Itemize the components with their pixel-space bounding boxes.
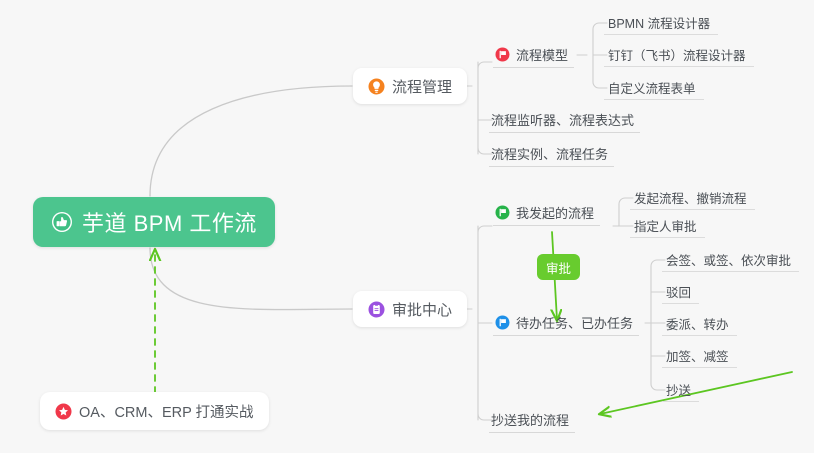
leaf-label: 抄送 <box>666 380 691 399</box>
topic-process-model[interactable]: 流程模型 <box>493 42 574 68</box>
leaf-bpmn-designer[interactable]: BPMN 流程设计器 <box>604 10 718 35</box>
leaf-reject[interactable]: 驳回 <box>662 279 699 304</box>
root-label: 芋道 BPM 工作流 <box>82 206 257 238</box>
topic-label: 流程监听器、流程表达式 <box>491 110 634 129</box>
leaf-label: 加签、减签 <box>666 346 729 365</box>
branch-label: 审批中心 <box>392 299 452 320</box>
footnote-node[interactable]: OA、CRM、ERP 打通实战 <box>40 392 269 430</box>
leaf-add-remove-sign[interactable]: 加签、减签 <box>662 343 737 368</box>
leaf-start-cancel-process[interactable]: 发起流程、撤销流程 <box>630 185 755 210</box>
leaf-label: 会签、或签、依次审批 <box>666 250 791 269</box>
leaf-cc[interactable]: 抄送 <box>662 377 699 402</box>
topic-label: 抄送我的流程 <box>491 410 569 429</box>
leaf-label: 指定人审批 <box>634 216 697 235</box>
leaf-dingtalk-designer[interactable]: 钉钉（飞书）流程设计器 <box>604 42 754 67</box>
leaf-label: BPMN 流程设计器 <box>608 13 710 32</box>
topic-cc-my-process[interactable]: 抄送我的流程 <box>489 407 575 433</box>
flag-red-icon <box>495 47 510 62</box>
clipboard-icon <box>368 301 385 318</box>
root-node[interactable]: 芋道 BPM 工作流 <box>33 197 275 247</box>
mindmap-canvas: 芋道 BPM 工作流 OA、CRM、ERP 打通实战 流程管理 <box>0 0 814 453</box>
topic-label: 流程实例、流程任务 <box>491 144 608 163</box>
leaf-label: 委派、转办 <box>666 314 729 333</box>
branch-process-management[interactable]: 流程管理 <box>353 68 467 104</box>
tag-approval[interactable]: 审批 <box>537 254 580 280</box>
leaf-label: 自定义流程表单 <box>608 78 696 97</box>
tag-label: 审批 <box>546 258 571 277</box>
flag-blue-icon <box>495 315 510 330</box>
star-icon <box>55 403 72 420</box>
leaf-assignee-approval[interactable]: 指定人审批 <box>630 213 705 238</box>
branch-approval-center[interactable]: 审批中心 <box>353 291 467 327</box>
leaf-label: 驳回 <box>666 282 691 301</box>
leaf-label: 发起流程、撤销流程 <box>634 188 747 207</box>
topic-process-instance[interactable]: 流程实例、流程任务 <box>489 141 614 167</box>
leaf-countersign[interactable]: 会签、或签、依次审批 <box>662 247 799 272</box>
leaf-custom-form[interactable]: 自定义流程表单 <box>604 75 704 100</box>
leaf-delegate-transfer[interactable]: 委派、转办 <box>662 311 737 336</box>
branch-label: 流程管理 <box>392 76 452 97</box>
topic-my-started-process[interactable]: 我发起的流程 <box>493 200 600 226</box>
flag-green-icon <box>495 205 510 220</box>
topic-label: 流程模型 <box>516 45 568 64</box>
leaf-label: 钉钉（飞书）流程设计器 <box>608 45 746 64</box>
footnote-label: OA、CRM、ERP 打通实战 <box>79 401 254 422</box>
topic-label: 我发起的流程 <box>516 203 594 222</box>
topic-process-listener[interactable]: 流程监听器、流程表达式 <box>489 107 640 133</box>
lightbulb-icon <box>368 78 385 95</box>
topic-todo-done-tasks[interactable]: 待办任务、已办任务 <box>493 310 639 336</box>
thumbs-up-icon <box>51 211 73 233</box>
topic-label: 待办任务、已办任务 <box>516 313 633 332</box>
